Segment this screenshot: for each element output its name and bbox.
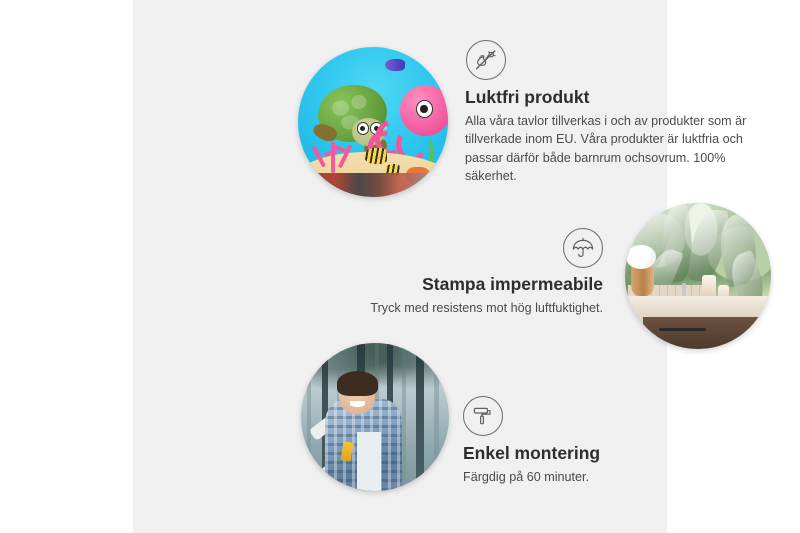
- shell-plate: [331, 99, 349, 116]
- paint-roller-icon: [463, 396, 503, 436]
- painter-photo: [301, 343, 449, 491]
- octopus-eye: [416, 100, 433, 119]
- feature-title: Enkel montering: [463, 443, 723, 464]
- feature-image-bathroom-leaf-wallpaper[interactable]: [625, 203, 771, 349]
- content-panel: Luktfri produkt Alla våra tavlor tillver…: [133, 0, 667, 533]
- wood-cabinet: [643, 317, 771, 349]
- underwater-illustration: [298, 47, 448, 197]
- feature-title: Luktfri produkt: [465, 87, 757, 108]
- drawer-handle: [659, 328, 706, 331]
- coral-plant: [312, 128, 360, 173]
- white-flowers: [626, 245, 655, 268]
- feature-description: Tryck med resistens mot hög luftfuktighe…: [345, 299, 603, 317]
- bathroom-photo: [625, 203, 771, 349]
- feature-description: Alla våra tavlor tillverkas i och av pro…: [465, 112, 757, 185]
- door-handle: [753, 323, 756, 343]
- feature-block-odorless: Luktfri produkt Alla våra tavlor tillver…: [465, 40, 757, 185]
- undershirt: [357, 432, 381, 491]
- tree-trunk: [416, 343, 423, 491]
- lower-photo-strip: [313, 173, 433, 197]
- vase: [631, 264, 654, 296]
- person-hair: [337, 371, 378, 396]
- person-smile: [350, 401, 365, 407]
- tree-trunk: [434, 343, 438, 491]
- feature-image-underwater-kids-scene[interactable]: [298, 47, 448, 197]
- feature-block-waterproof: Stampa impermeabile Tryck med resistens …: [345, 228, 603, 317]
- feature-description: Färgdig på 60 minuter.: [463, 468, 723, 486]
- blue-fish-icon: [385, 59, 405, 71]
- tree-trunk: [307, 343, 311, 491]
- coral-branch: [312, 145, 327, 168]
- feature-image-painter-forest-wallpaper[interactable]: [301, 343, 449, 491]
- tree-trunk: [402, 343, 406, 491]
- no-smell-perfume-bottle-icon: [466, 40, 506, 80]
- icon-row: [345, 228, 603, 268]
- feature-block-assembly: Enkel montering Färgdig på 60 minuter.: [463, 396, 723, 486]
- yellow-fish-icon: [364, 148, 387, 165]
- umbrella-icon: [563, 228, 603, 268]
- feature-title: Stampa impermeabile: [345, 274, 603, 295]
- screenshot-root: Luktfri produkt Alla våra tavlor tillver…: [0, 0, 800, 533]
- shell-plate: [350, 94, 367, 110]
